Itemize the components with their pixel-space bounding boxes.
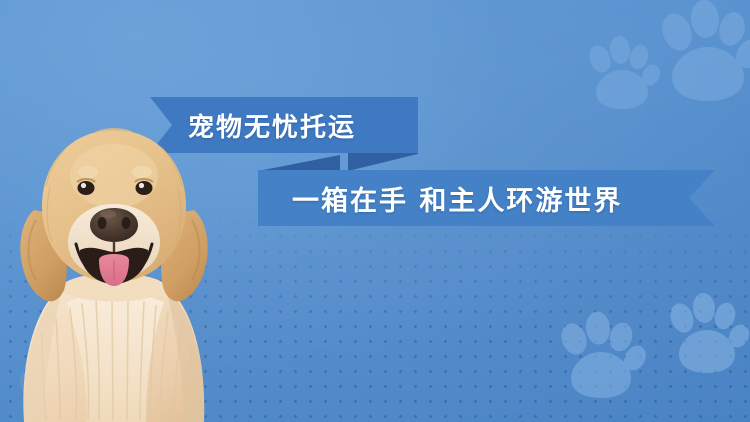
- banner-primary: 宠物无忧托运: [150, 97, 418, 153]
- banner-primary-text: 宠物无忧托运: [188, 107, 356, 144]
- banner-secondary-text: 一箱在手 和主人环游世界: [292, 179, 622, 218]
- promo-banner-canvas: 宠物无忧托运 一箱在手 和主人环游世界: [0, 0, 750, 422]
- banner-secondary: 一箱在手 和主人环游世界: [258, 170, 715, 226]
